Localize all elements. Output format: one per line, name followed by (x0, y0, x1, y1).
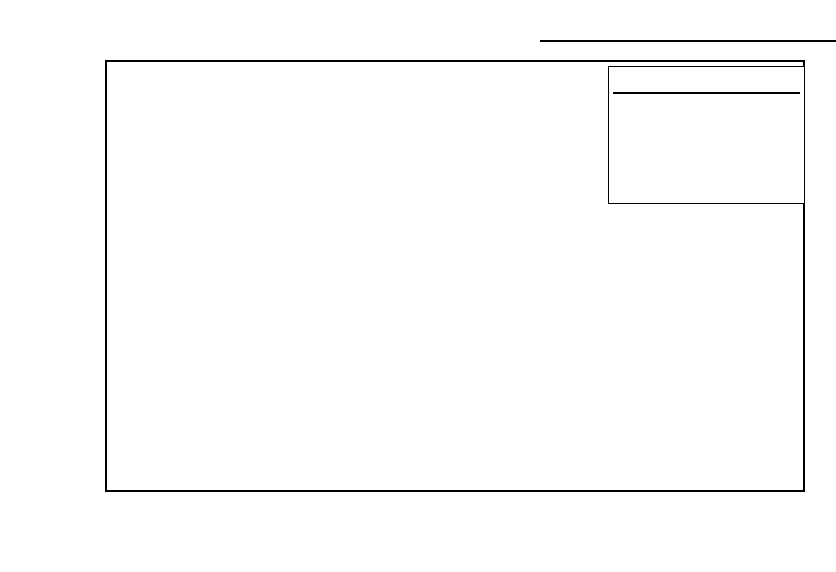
header-divider (540, 40, 836, 42)
root-canvas (0, 0, 836, 572)
eee-logo (540, 2, 836, 42)
stats-box-title (613, 67, 800, 94)
stats-box[interactable] (608, 66, 805, 204)
